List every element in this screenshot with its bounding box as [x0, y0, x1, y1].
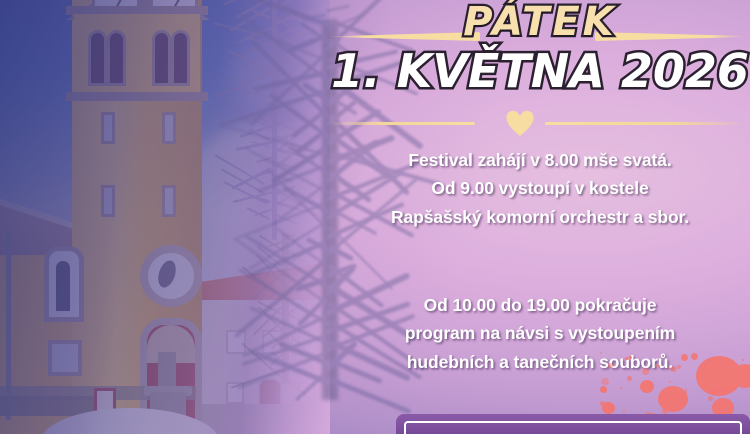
event-poster: PÁTEK 1. KVĚTNA 2026 Festival zahájí v 8…	[0, 0, 750, 434]
heart-icon	[505, 109, 535, 137]
paragraph-line: Rapšašský komorní orchestr a sbor.	[330, 203, 750, 231]
date-label: 1. KVĚTNA 2026	[330, 44, 750, 98]
gold-rule-lower-left	[330, 122, 475, 125]
banner-outline	[404, 421, 742, 434]
paragraph-line: Od 9.00 vystoupí v kostele	[330, 174, 750, 202]
paragraph-one: Festival zahájí v 8.00 mše svatá. Od 9.0…	[330, 146, 750, 231]
gold-rule-lower-right	[545, 122, 745, 125]
day-label: PÁTEK	[330, 2, 750, 42]
paragraph-line: Festival zahájí v 8.00 mše svatá.	[330, 146, 750, 174]
bottom-purple-banner	[396, 414, 750, 434]
paragraph-line: program na návsi s vystoupením	[330, 319, 750, 347]
paragraph-line: Od 10.00 do 19.00 pokračuje	[330, 291, 750, 319]
